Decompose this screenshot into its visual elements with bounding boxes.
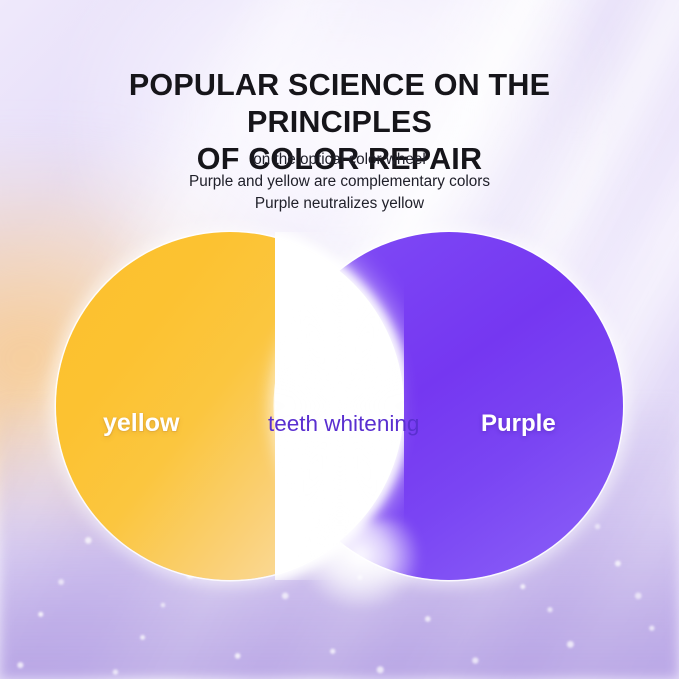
venn-label-teeth-whitening: teeth whitening — [268, 411, 419, 437]
venn-overlap-fill — [275, 232, 404, 580]
poster-canvas: POPULAR SCIENCE ON THE PRINCIPLES OF COL… — [0, 0, 679, 679]
venn-diagram: yellow teeth whitening Purple — [0, 0, 679, 679]
venn-label-purple: Purple — [481, 410, 556, 438]
venn-label-yellow: yellow — [103, 409, 179, 438]
venn-overlap-region — [275, 232, 404, 580]
